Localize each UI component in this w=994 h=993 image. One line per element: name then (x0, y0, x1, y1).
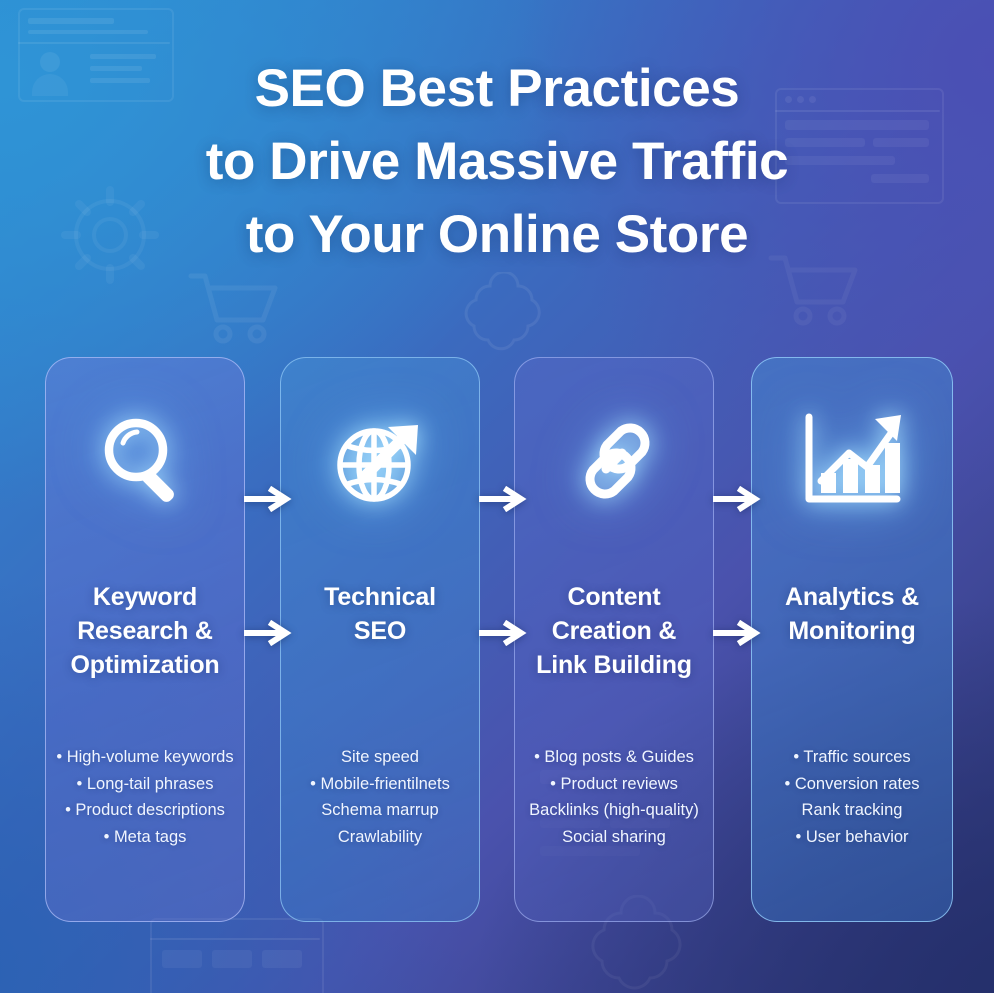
list-item: • Blog posts & Guides (517, 744, 711, 771)
globe-arrow-icon (281, 358, 479, 563)
arrow-right-icon (713, 620, 763, 646)
arrow-right-icon (244, 620, 294, 646)
card-title-line: Research & (52, 614, 238, 648)
step-card-bullets: • Blog posts & Guides • Product reviews … (517, 744, 711, 851)
list-item: • Traffic sources (754, 744, 950, 771)
card-title-line: Content (521, 580, 707, 614)
chain-link-icon (515, 358, 713, 563)
list-item: Schema marrup (283, 797, 477, 824)
magnifying-glass-icon (46, 358, 244, 563)
list-item: • Conversion rates (754, 771, 950, 798)
step-card-keyword-research[interactable]: Keyword Research & Optimization • High-v… (45, 357, 245, 922)
card-title-line: Technical (287, 580, 473, 614)
card-title-line: Creation & (521, 614, 707, 648)
step-card-technical-seo[interactable]: Technical SEO Site speed • Mobile-frient… (280, 357, 480, 922)
step-card-title: Keyword Research & Optimization (52, 580, 238, 682)
infographic-poster: SEO Best Practices to Drive Massive Traf… (0, 0, 994, 993)
list-item: • Meta tags (48, 824, 242, 851)
list-item: • Long-tail phrases (48, 771, 242, 798)
card-title-line: Analytics & (758, 580, 946, 614)
list-item: • Product reviews (517, 771, 711, 798)
poster-title: SEO Best Practices to Drive Massive Traf… (0, 52, 994, 271)
list-item: Backlinks (high-quality) (517, 797, 711, 824)
card-title-line: Monitoring (758, 614, 946, 648)
list-item: Site speed (283, 744, 477, 771)
step-card-bullets: • Traffic sources • Conversion rates Ran… (754, 744, 950, 851)
arrow-right-icon (713, 486, 763, 512)
list-item: • Product descriptions (48, 797, 242, 824)
title-line-2: to Drive Massive Traffic (0, 125, 994, 198)
list-item: Crawlability (283, 824, 477, 851)
watermark-cart-icon (185, 268, 281, 348)
card-title-line: Keyword (52, 580, 238, 614)
step-card-bullets: • High-volume keywords • Long-tail phras… (48, 744, 242, 851)
bar-chart-growth-icon (752, 358, 952, 563)
step-card-analytics-monitoring[interactable]: Analytics & Monitoring • Traffic sources… (751, 357, 953, 922)
watermark-cloud-center (460, 272, 550, 354)
step-card-bullets: Site speed • Mobile-frientilnets Schema … (283, 744, 477, 851)
arrow-right-icon (479, 620, 529, 646)
step-card-content-creation[interactable]: Content Creation & Link Building • Blog … (514, 357, 714, 922)
list-item: • Mobile-frientilnets (283, 771, 477, 798)
title-line-3: to Your Online Store (0, 198, 994, 271)
watermark-browser-window-bottom (150, 918, 320, 993)
list-item: • High-volume keywords (48, 744, 242, 771)
step-card-title: Analytics & Monitoring (758, 580, 946, 648)
list-item: Rank tracking (754, 797, 950, 824)
card-title-line: Link Building (521, 648, 707, 682)
step-card-title: Content Creation & Link Building (521, 580, 707, 682)
step-card-title: Technical SEO (287, 580, 473, 648)
list-item: Social sharing (517, 824, 711, 851)
title-line-1: SEO Best Practices (0, 52, 994, 125)
card-title-line: Optimization (52, 648, 238, 682)
arrow-right-icon (479, 486, 529, 512)
card-title-line: SEO (287, 614, 473, 648)
arrow-right-icon (244, 486, 294, 512)
list-item: • User behavior (754, 824, 950, 851)
